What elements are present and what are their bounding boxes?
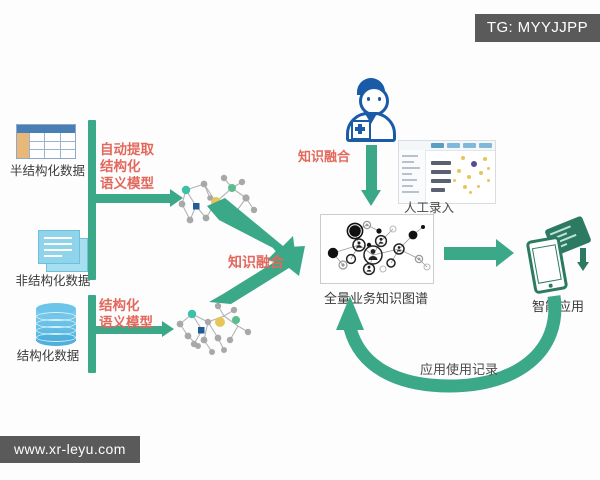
diagram-canvas: TG: MYYJJPP www.xr-leyu.com 半结构化数据 (0, 0, 600, 480)
transform-label-line: 结构化 (99, 298, 153, 315)
label-semi-structured-data: 半结构化数据 (0, 160, 95, 179)
table-icon-column (61, 133, 75, 158)
top-right-watermark-tag: TG: MYYJJPP (475, 14, 600, 42)
transform-label-line: 语义模型 (100, 176, 154, 193)
label-structured-data: 结构化数据 (3, 345, 93, 364)
output-arrowhead (496, 239, 514, 267)
table-icon-grid (16, 124, 76, 159)
fusion-label-top: 知识融合 (298, 149, 350, 166)
knowledge-graph-network (321, 215, 433, 283)
medical-cross-icon (351, 120, 371, 140)
nurse-icon (340, 78, 402, 146)
table-icon-column (30, 133, 45, 158)
document-page-front (38, 230, 80, 264)
transform-label-line: 语义模型 (99, 315, 153, 332)
table-icon-header-row (17, 125, 75, 133)
fusion-arrow-shaft-top (366, 145, 377, 193)
transform-label-semantic-model: 结构化 语义模型 (99, 298, 153, 332)
transform-label-line: 自动提取 (100, 142, 154, 159)
fusion-label-left: 知识融合 (228, 255, 284, 272)
bottom-left-watermark-url: www.xr-leyu.com (0, 436, 140, 463)
fusion-arrowhead-top (361, 190, 381, 206)
device-accent-arrowhead (577, 262, 589, 271)
transform-bar-semantic-model (88, 295, 96, 373)
knowledge-graph-box (320, 214, 434, 284)
smart-device-icon (522, 218, 596, 290)
dashboard-screenshot (398, 140, 496, 204)
feedback-arc-arrow (330, 290, 570, 400)
transform-label-line: 结构化 (100, 159, 154, 176)
output-arrow-shaft (444, 247, 500, 260)
table-icon-first-column (17, 133, 30, 158)
transform-label-auto-extract: 自动提取 结构化 语义模型 (100, 142, 154, 193)
fusion-arrows (205, 198, 325, 308)
transform-arrow-shaft-auto-extract (95, 194, 173, 203)
table-icon-body (17, 133, 75, 158)
table-icon-column (45, 133, 60, 158)
label-feedback: 应用使用记录 (420, 359, 498, 378)
